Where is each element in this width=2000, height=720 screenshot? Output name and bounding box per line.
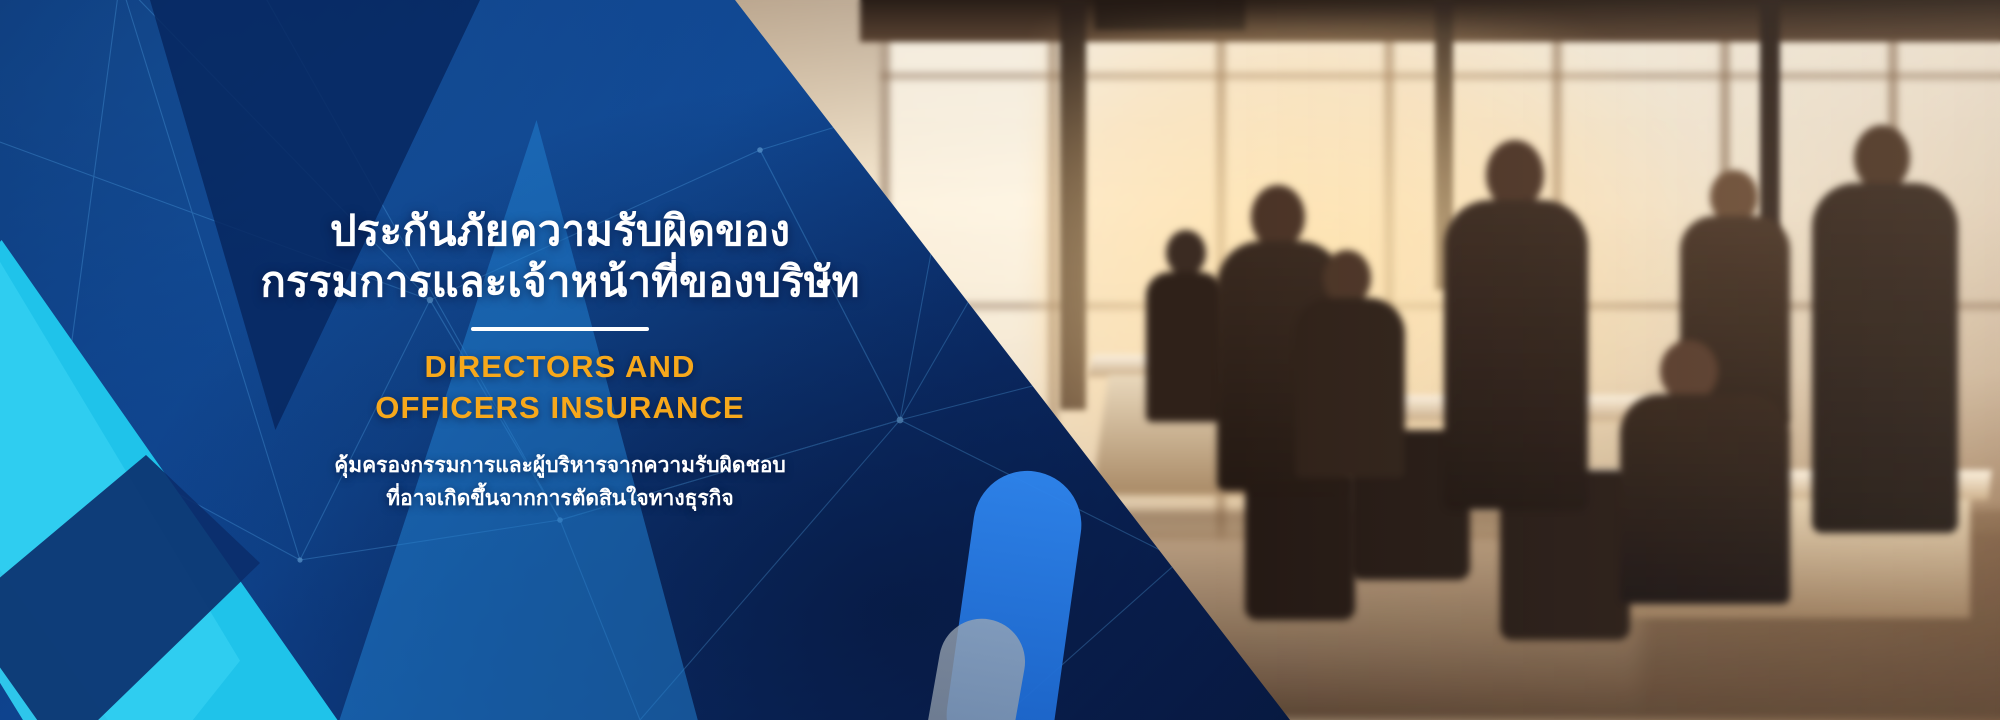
headline-english: DIRECTORS AND OFFICERS INSURANCE xyxy=(230,347,890,428)
person-silhouette xyxy=(1440,140,1590,500)
person-body xyxy=(1812,183,1958,533)
hero-banner: ประกันภัยความรับผิดของ กรรมการและเจ้าหน้… xyxy=(0,0,2000,720)
headline-thai: ประกันภัยความรับผิดของ กรรมการและเจ้าหน้… xyxy=(230,205,890,307)
person-body xyxy=(1620,394,1790,604)
headline-thai-line1: ประกันภัยความรับผิดของ xyxy=(230,205,890,256)
title-divider xyxy=(471,327,649,331)
person-head xyxy=(1251,185,1305,249)
person-head xyxy=(1166,230,1206,276)
person-body xyxy=(1444,200,1588,510)
person-body xyxy=(1146,272,1224,422)
headline-thai-line2: กรรมการและเจ้าหน้าที่ของบริษัท xyxy=(230,256,890,307)
headline-english-line1: DIRECTORS AND xyxy=(230,347,890,387)
tagline-thai: คุ้มครองกรรมการและผู้บริหารจากความรับผิด… xyxy=(230,450,890,515)
person-head xyxy=(1660,340,1718,402)
tagline-thai-line1: คุ้มครองกรรมการและผู้บริหารจากความรับผิด… xyxy=(230,450,890,483)
office-chair xyxy=(1245,470,1355,620)
person-silhouette xyxy=(1810,125,1960,525)
person-silhouette xyxy=(1620,340,1790,600)
headline-english-line2: OFFICERS INSURANCE xyxy=(230,388,890,428)
person-body xyxy=(1295,298,1405,478)
person-head xyxy=(1854,125,1910,191)
tagline-thai-line2: ที่อาจเกิดขึ้นจากการตัดสินใจทางธุรกิจ xyxy=(230,483,890,516)
banner-text-block: ประกันภัยความรับผิดของ กรรมการและเจ้าหน้… xyxy=(230,205,890,515)
person-silhouette xyxy=(1295,250,1405,470)
